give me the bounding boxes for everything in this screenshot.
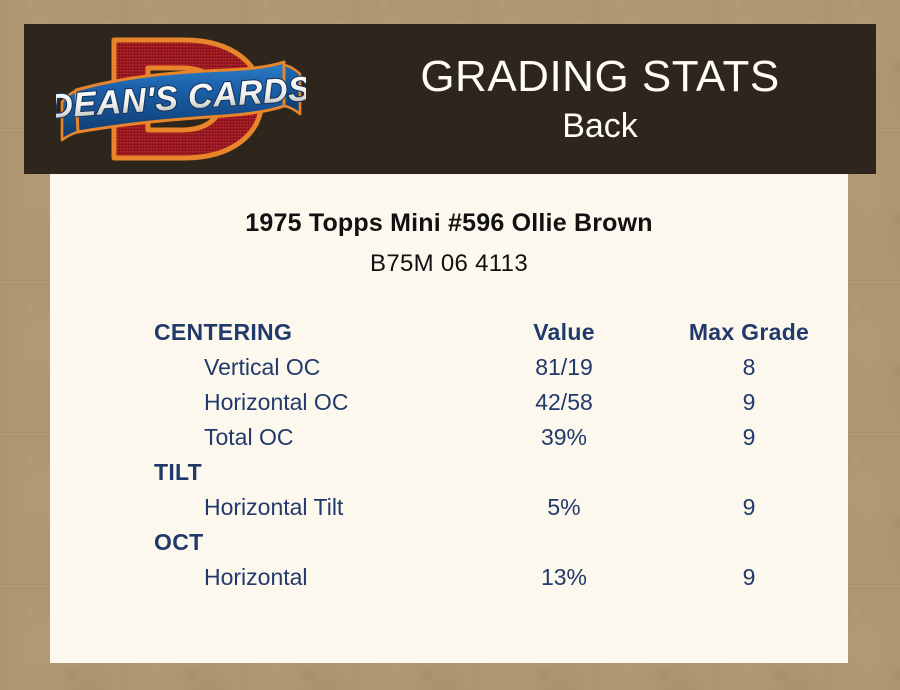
row-value-total-oc: 39% <box>484 421 644 454</box>
column-header-centering: CENTERING <box>154 316 292 349</box>
table-header-row: CENTERING Value Max Grade <box>154 316 844 351</box>
logo-graphic: DEAN'S CARDS <box>56 28 306 170</box>
row-label-horizontal-oc: Horizontal OC <box>204 386 348 419</box>
header-title-group: GRADING STATS Back <box>324 24 876 174</box>
row-grade-horizontal-tilt: 9 <box>669 491 829 524</box>
row-grade-horizontal: 9 <box>669 561 829 594</box>
row-value-vertical-oc: 81/19 <box>484 351 644 384</box>
section-header-tilt: TILT <box>154 456 202 489</box>
grading-stats-table: CENTERING Value Max Grade Vertical OC 81… <box>154 316 844 596</box>
table-row: Total OC 39% 9 <box>154 421 844 456</box>
page-title: GRADING STATS <box>420 51 779 103</box>
deans-cards-logo[interactable]: DEAN'S CARDS <box>56 28 306 170</box>
row-grade-total-oc: 9 <box>669 421 829 454</box>
table-section-row: OCT <box>154 526 844 561</box>
column-header-value: Value <box>484 316 644 349</box>
section-header-oct: OCT <box>154 526 203 559</box>
row-label-total-oc: Total OC <box>204 421 293 454</box>
card-serial-number: B75M 06 4113 <box>50 250 848 278</box>
grading-stats-page: DEAN'S CARDS GRADING STATS Back 1975 Top… <box>0 0 900 690</box>
row-value-horizontal-tilt: 5% <box>484 491 644 524</box>
row-label-vertical-oc: Vertical OC <box>204 351 320 384</box>
row-grade-horizontal-oc: 9 <box>669 386 829 419</box>
table-row: Horizontal 13% 9 <box>154 561 844 596</box>
table-row: Horizontal Tilt 5% 9 <box>154 491 844 526</box>
row-value-horizontal-oc: 42/58 <box>484 386 644 419</box>
table-row: Horizontal OC 42/58 9 <box>154 386 844 421</box>
page-subtitle: Back <box>562 105 638 147</box>
row-value-horizontal: 13% <box>484 561 644 594</box>
row-label-horizontal: Horizontal <box>204 561 308 594</box>
table-row: Vertical OC 81/19 8 <box>154 351 844 386</box>
table-section-row: TILT <box>154 456 844 491</box>
column-header-max-grade: Max Grade <box>669 316 829 349</box>
content-panel: 1975 Topps Mini #596 Ollie Brown B75M 06… <box>50 174 848 663</box>
header-bar: DEAN'S CARDS GRADING STATS Back <box>24 24 876 174</box>
row-grade-vertical-oc: 8 <box>669 351 829 384</box>
card-title: 1975 Topps Mini #596 Ollie Brown <box>50 209 848 238</box>
row-label-horizontal-tilt: Horizontal Tilt <box>204 491 343 524</box>
